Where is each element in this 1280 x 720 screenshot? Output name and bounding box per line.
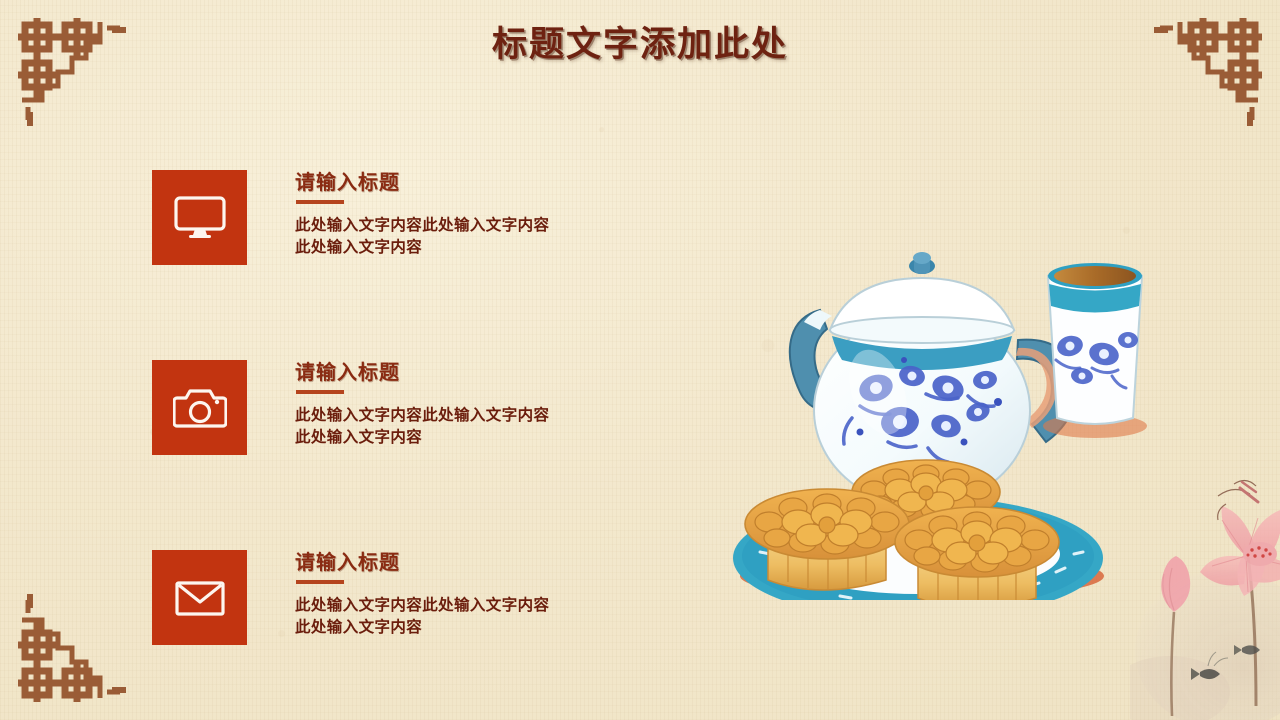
body-line-2: 此处输入文字内容 bbox=[295, 237, 675, 259]
feature-list: 请输入标题 此处输入文字内容此处输入文字内容 此处输入文字内容 bbox=[152, 170, 672, 550]
list-item-body: 此处输入文字内容此处输入文字内容 此处输入文字内容 bbox=[295, 215, 675, 260]
page-title: 标题文字添加此处 bbox=[0, 16, 1280, 67]
title-divider bbox=[296, 200, 344, 204]
monitor-icon bbox=[173, 195, 227, 241]
list-item-body: 此处输入文字内容此处输入文字内容 此处输入文字内容 bbox=[295, 595, 675, 640]
body-line-1: 此处输入文字内容此处输入文字内容 bbox=[295, 405, 675, 427]
list-item-text: 请输入标题 此处输入文字内容此处输入文字内容 此处输入文字内容 bbox=[295, 362, 675, 450]
body-line-2: 此处输入文字内容 bbox=[295, 617, 675, 639]
list-item[interactable]: 请输入标题 此处输入文字内容此处输入文字内容 此处输入文字内容 bbox=[152, 170, 672, 360]
icon-tile-envelope[interactable] bbox=[152, 550, 247, 645]
envelope-icon bbox=[173, 575, 227, 621]
icon-tile-camera[interactable] bbox=[152, 360, 247, 455]
body-line-1: 此处输入文字内容此处输入文字内容 bbox=[295, 595, 675, 617]
camera-icon bbox=[173, 385, 227, 431]
title-divider bbox=[296, 580, 344, 584]
list-item-body: 此处输入文字内容此处输入文字内容 此处输入文字内容 bbox=[295, 405, 675, 450]
list-item[interactable]: 请输入标题 此处输入文字内容此处输入文字内容 此处输入文字内容 bbox=[152, 360, 672, 550]
slide-canvas: 标题文字添加此处 bbox=[0, 0, 1280, 720]
body-line-1: 此处输入文字内容此处输入文字内容 bbox=[295, 215, 675, 237]
list-item-text: 请输入标题 此处输入文字内容此处输入文字内容 此处输入文字内容 bbox=[295, 172, 675, 260]
list-item-title: 请输入标题 bbox=[295, 362, 675, 385]
teapot-mooncakes-illustration bbox=[700, 180, 1160, 600]
list-item-title: 请输入标题 bbox=[295, 172, 675, 195]
body-line-2: 此处输入文字内容 bbox=[295, 427, 675, 449]
list-item-title: 请输入标题 bbox=[295, 552, 675, 575]
corner-ornament-bottom-left bbox=[8, 594, 126, 712]
list-item-text: 请输入标题 此处输入文字内容此处输入文字内容 此处输入文字内容 bbox=[295, 552, 675, 640]
title-divider bbox=[296, 390, 344, 394]
icon-tile-monitor[interactable] bbox=[152, 170, 247, 265]
